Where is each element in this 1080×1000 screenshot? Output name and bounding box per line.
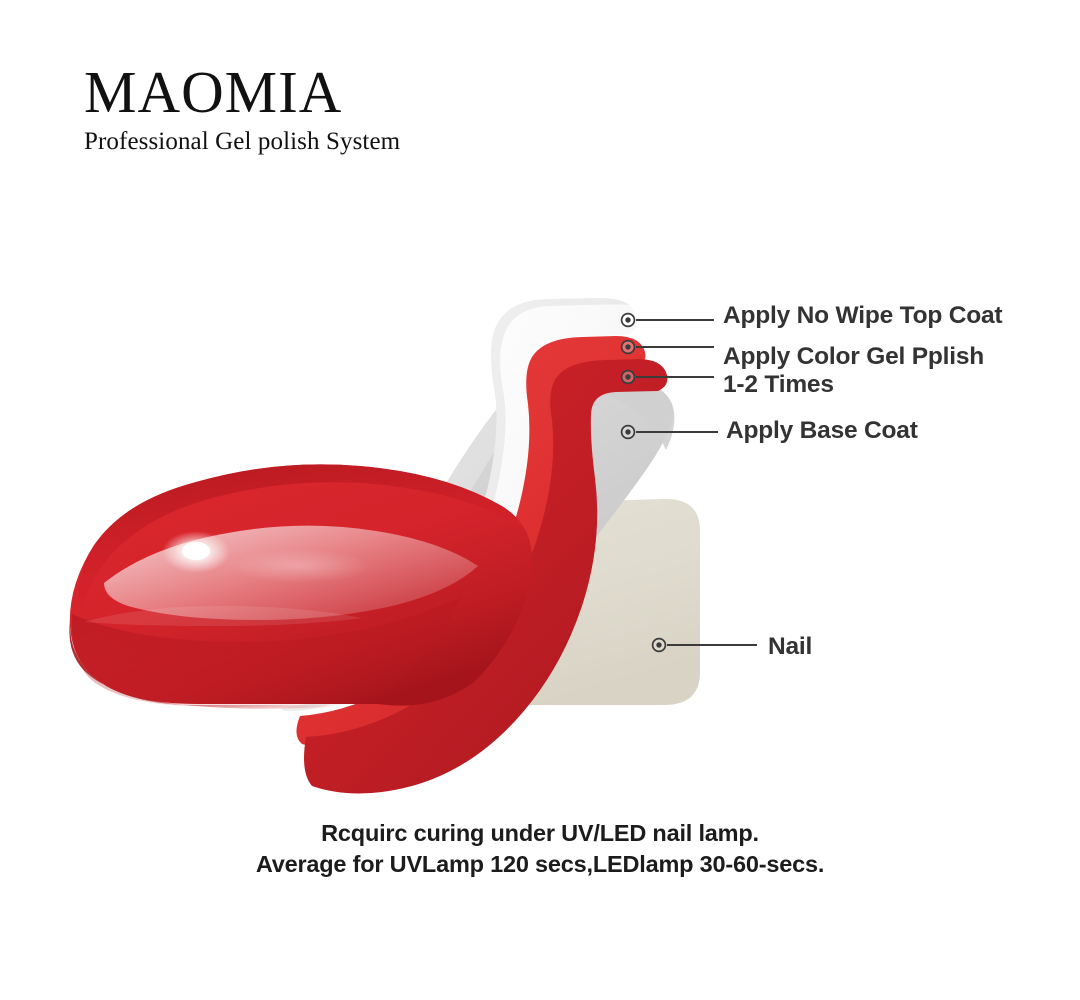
layer-top-coat <box>281 298 637 724</box>
marker-dot-nail <box>653 639 666 652</box>
layer-color-gel-dark <box>304 359 667 794</box>
callout-label-times: 1-2 Times <box>723 371 834 399</box>
callout-markers <box>622 314 666 652</box>
layer-color-gel-light <box>296 336 645 751</box>
marker-dot-times <box>622 371 635 384</box>
callout-label-base-coat: Apply Base Coat <box>726 417 918 445</box>
marker-dot-base-coat <box>622 426 635 439</box>
footer-note: Rcquirc curing under UV/LED nail lamp. A… <box>0 818 1080 880</box>
callout-label-top-coat: Apply No Wipe Top Coat <box>723 302 1002 330</box>
footer-note-line-2: Average for UVLamp 120 secs,LEDlamp 30-6… <box>0 849 1080 880</box>
callout-label-nail: Nail <box>768 633 812 661</box>
callout-label-color-gel: Apply Color Gel Pplish <box>723 343 984 371</box>
marker-dot-top-coat <box>622 314 635 327</box>
layer-nail <box>458 499 700 705</box>
nail-polish-dome <box>69 464 532 708</box>
brand-subtitle: Professional Gel polish System <box>84 127 604 157</box>
brand-title: MAOMIA <box>84 60 604 124</box>
diagram-canvas: MAOMIA Professional Gel polish System <box>0 0 1080 1000</box>
brand-block: MAOMIA Professional Gel polish System <box>84 60 604 157</box>
layer-base-coat <box>300 383 674 698</box>
marker-dot-color-gel <box>622 341 635 354</box>
footer-note-line-1: Rcquirc curing under UV/LED nail lamp. <box>0 818 1080 849</box>
